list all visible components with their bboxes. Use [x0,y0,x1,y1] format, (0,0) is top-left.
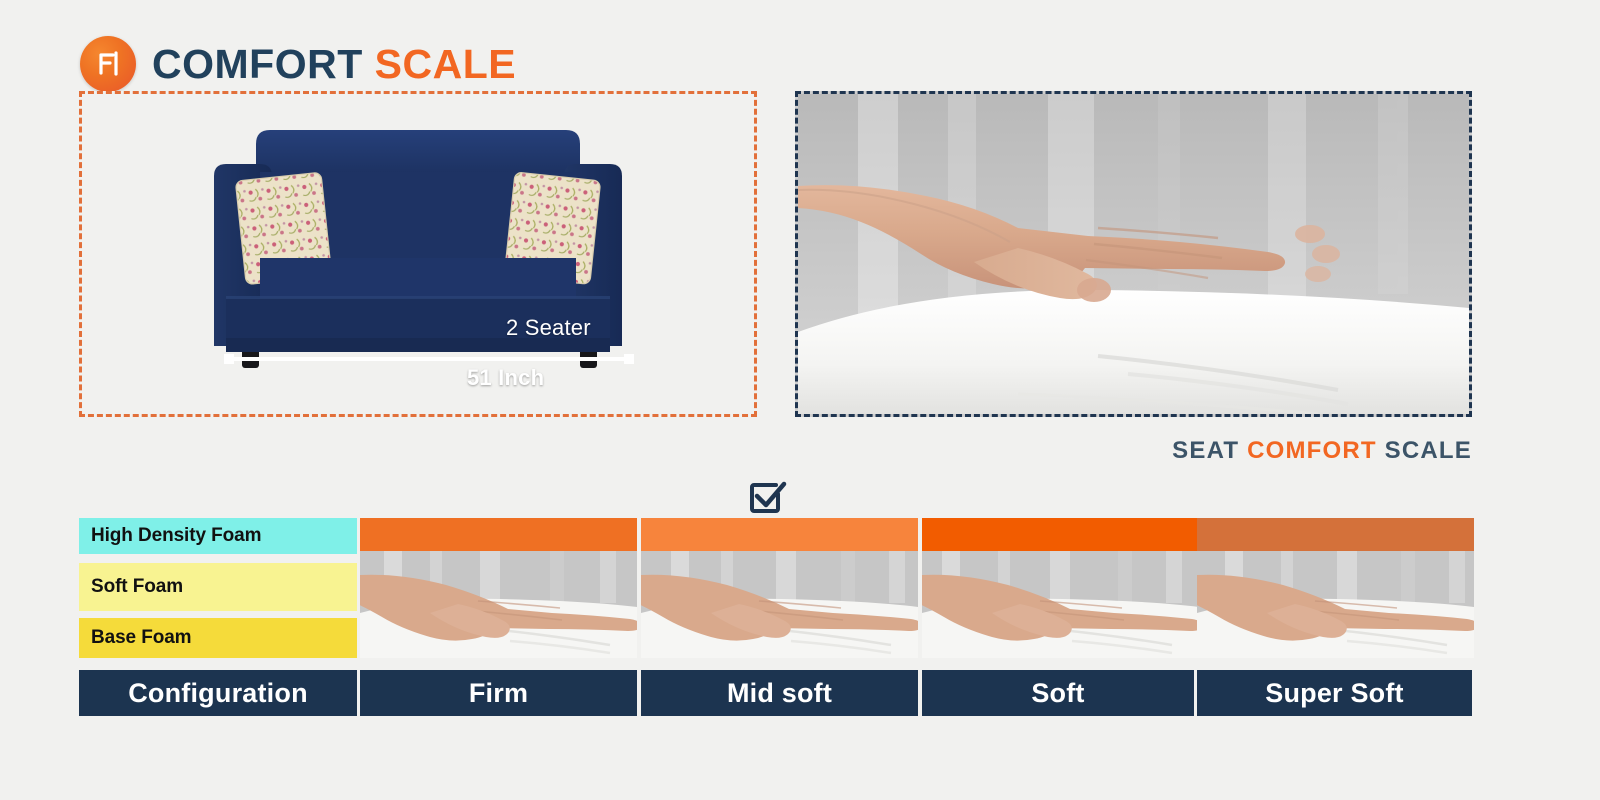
label-firm[interactable]: Firm [360,670,637,716]
caption-accent: COMFORT [1247,437,1377,464]
seater-label: 2 Seater [506,315,591,341]
label-configuration: Configuration [79,670,357,716]
super-soft-foam-photo [1197,551,1474,658]
sofa-dimension-panel: 2 Seater 51 Inch [79,91,757,417]
firm-foam-bar [360,518,637,551]
foam-layer-legend: High Density Foam Soft Foam Base Foam [79,518,357,658]
checkbox-checked-icon[interactable] [745,474,787,516]
comfort-column-mid-soft[interactable] [641,518,918,658]
label-super-soft[interactable]: Super Soft [1197,670,1472,716]
page-title-primary: COMFORT [152,41,363,87]
soft-foam-photo [922,551,1199,658]
caption-lead: SEAT [1172,437,1239,464]
mid-soft-foam-photo [641,551,918,658]
page-header: COMFORT SCALE [80,36,516,92]
comfort-scale-grid: High Density Foam Soft Foam Base Foam [79,518,1472,716]
comfort-column-super-soft[interactable] [1197,518,1474,658]
hand-pressing-foam-photo [798,94,1469,414]
comfort-column-firm[interactable] [360,518,637,658]
super-soft-foam-bar [1197,518,1474,551]
seat-comfort-scale-caption: SEAT COMFORT SCALE [1172,437,1472,465]
sofa-illustration: 2 Seater 51 Inch [82,94,754,414]
mid-soft-foam-bar [641,518,918,551]
legend-base-foam: Base Foam [79,618,357,658]
comfort-label-bar: Configuration Firm Mid soft Soft Super S… [79,670,1472,716]
legend-high-density-foam: High Density Foam [79,518,357,554]
comfort-column-soft[interactable] [922,518,1199,658]
label-mid-soft[interactable]: Mid soft [641,670,918,716]
comfort-grid-row: High Density Foam Soft Foam Base Foam [79,518,1472,658]
seat-comfort-photo-panel [795,91,1472,417]
furniture-chair-logo-icon [80,36,136,92]
width-dimension-line [224,354,634,366]
width-label: 51 Inch [467,365,544,391]
label-soft[interactable]: Soft [922,670,1194,716]
page-title-accent: SCALE [375,41,516,87]
legend-soft-foam: Soft Foam [79,563,357,611]
firm-foam-photo [360,551,637,658]
page-title: COMFORT SCALE [152,41,516,88]
caption-tail: SCALE [1385,437,1472,464]
soft-foam-bar [922,518,1199,551]
